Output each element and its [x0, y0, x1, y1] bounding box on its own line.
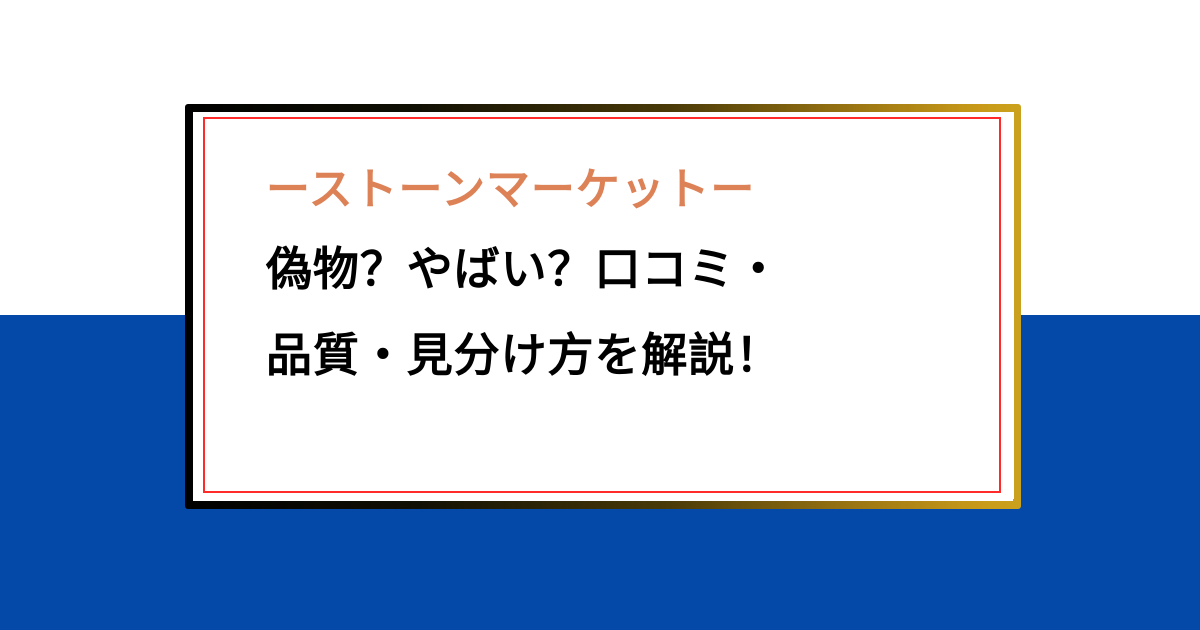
headline-line-2: 品質・見分け方を解説！	[266, 332, 966, 378]
headline-line-1: 偽物？やばい？口コミ・	[266, 246, 966, 292]
brand-eyebrow: ーストーンマーケットー	[266, 168, 966, 212]
title-text-block: ーストーンマーケットー 偽物？やばい？口コミ・ 品質・見分け方を解説！	[266, 168, 966, 378]
og-image-canvas: ーストーンマーケットー 偽物？やばい？口コミ・ 品質・見分け方を解説！	[0, 0, 1200, 630]
